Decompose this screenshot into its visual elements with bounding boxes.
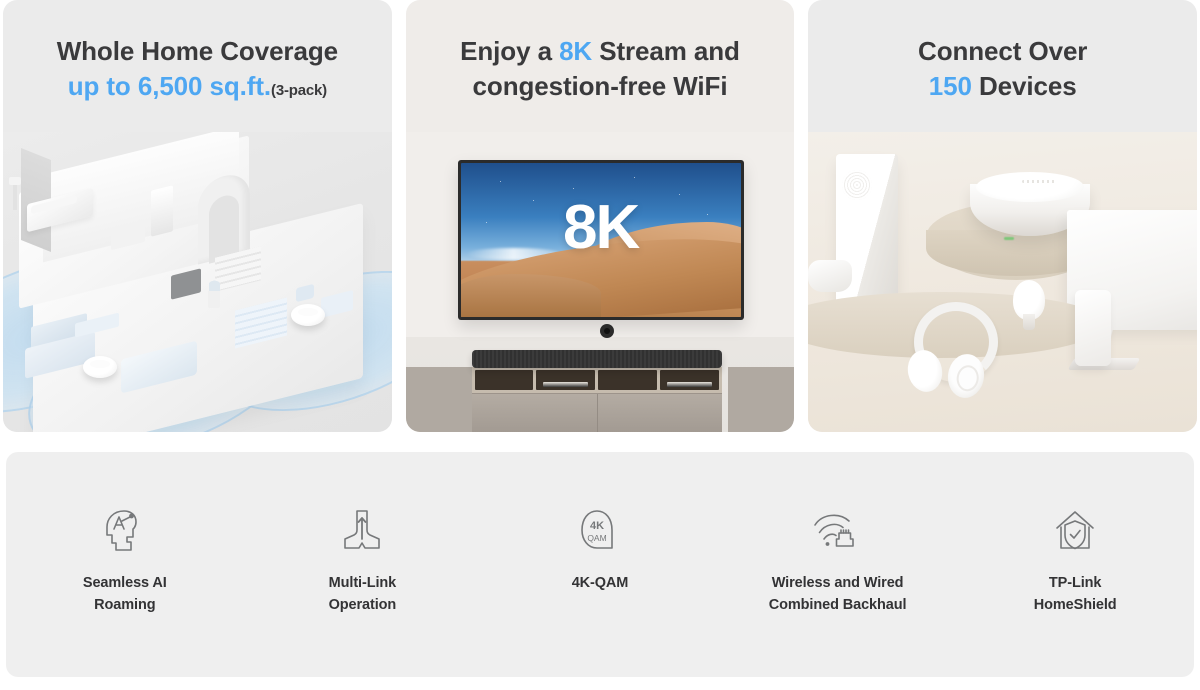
- cabinet: [151, 185, 173, 236]
- headphones: [908, 302, 986, 400]
- feature-highlights-panel: Seamless AI Roaming Multi-Link Operation…: [6, 452, 1194, 677]
- card-2-highlight: 8K: [559, 36, 592, 66]
- card-8k-stream[interactable]: Enjoy a 8K Stream and congestion-free Wi…: [406, 0, 795, 432]
- home-shield-icon: [1052, 504, 1098, 558]
- wifi-ethernet-icon: [812, 504, 864, 558]
- card-1-title-line2: up to 6,500 sq.ft.(3-pack): [57, 69, 338, 104]
- card-2-title-post: Stream and: [592, 36, 740, 66]
- sand-dune-front: [461, 274, 601, 317]
- feature-4k-qam[interactable]: 4K QAM 4K-QAM: [481, 452, 719, 594]
- svg-text:4K: 4K: [590, 520, 604, 532]
- router-status-led: [1004, 237, 1014, 240]
- star: [634, 177, 635, 178]
- card-1-artwork: [3, 132, 392, 432]
- card-2-title-line1: Enjoy a 8K Stream and: [460, 34, 740, 69]
- smart-bulb: [1013, 280, 1045, 336]
- console-wall-right: [728, 367, 794, 432]
- tv-room-illustration: 8K: [406, 132, 795, 432]
- ai-head-icon: [103, 504, 147, 558]
- tv-mount-knob: [600, 324, 614, 338]
- tv-screen: 8K: [461, 163, 741, 317]
- card-3-title-line2: 150 Devices: [918, 69, 1087, 104]
- media-device: [667, 382, 712, 387]
- floor-lamp: [13, 184, 17, 210]
- feature-multi-link-operation[interactable]: Multi-Link Operation: [244, 452, 482, 617]
- card-2-artwork: 8K: [406, 132, 795, 432]
- card-3-highlight: 150: [929, 71, 972, 101]
- card-2-title: Enjoy a 8K Stream and congestion-free Wi…: [446, 34, 754, 103]
- card-3-title: Connect Over 150 Devices: [904, 34, 1101, 103]
- svg-text:QAM: QAM: [587, 533, 606, 543]
- card-whole-home-coverage[interactable]: Whole Home Coverage up to 6,500 sq.ft.(3…: [3, 0, 392, 432]
- feature-tp-link-homeshield[interactable]: TP-Link HomeShield: [956, 452, 1194, 617]
- feature-label-2: 4K-QAM: [572, 572, 629, 594]
- feature-label-1: Multi-Link Operation: [329, 572, 397, 617]
- console-wall-left: [406, 367, 472, 432]
- tv-resolution-label: 8K: [461, 197, 741, 259]
- television: 8K: [458, 160, 744, 320]
- multi-link-icon: [340, 504, 384, 558]
- bulb-base: [1023, 314, 1035, 330]
- router-vent: [1022, 180, 1056, 183]
- card-connect-devices[interactable]: Connect Over 150 Devices: [808, 0, 1197, 432]
- devices-illustration: [808, 132, 1197, 432]
- card-3-title-post: Devices: [972, 71, 1077, 101]
- soundbar: [472, 350, 722, 368]
- feature-cards-row: Whole Home Coverage up to 6,500 sq.ft.(3…: [0, 0, 1200, 432]
- star: [573, 188, 574, 189]
- console-fan-grille: [842, 170, 872, 200]
- mesh-unit-second-room: [291, 304, 325, 326]
- router-top: [976, 172, 1084, 202]
- console-drawers: [472, 393, 722, 432]
- card-1-title-line1: Whole Home Coverage: [57, 34, 338, 69]
- card-3-artwork: [808, 132, 1197, 432]
- console-cubby: [536, 370, 595, 390]
- star: [679, 194, 680, 195]
- console-cubby: [475, 370, 534, 390]
- feature-seamless-ai-roaming[interactable]: Seamless AI Roaming: [6, 452, 244, 617]
- media-device: [543, 382, 588, 387]
- mesh-unit-living-room: [83, 356, 117, 378]
- card-1-title: Whole Home Coverage up to 6,500 sq.ft.(3…: [43, 34, 352, 103]
- smartphone: [1075, 290, 1111, 366]
- console-cubby: [660, 370, 719, 390]
- star: [500, 181, 501, 182]
- card-2-title-line2: congestion-free WiFi: [460, 69, 740, 104]
- isometric-house-illustration: [3, 132, 392, 432]
- card-1-highlight: up to 6,500 sq.ft.: [68, 71, 271, 101]
- feature-label-4: TP-Link HomeShield: [1034, 572, 1117, 617]
- feature-label-3: Wireless and Wired Combined Backhaul: [769, 572, 907, 617]
- qam-badge-icon: 4K QAM: [578, 504, 622, 558]
- potted-plant: [208, 290, 220, 308]
- game-controller: [808, 260, 852, 292]
- card-2-title-pre: Enjoy a: [460, 36, 559, 66]
- card-3-title-line1: Connect Over: [918, 34, 1087, 69]
- feature-label-0: Seamless AI Roaming: [83, 572, 167, 617]
- console-shelves: [472, 367, 722, 393]
- card-1-note: (3-pack): [271, 82, 327, 99]
- feature-combined-backhaul[interactable]: Wireless and Wired Combined Backhaul: [719, 452, 957, 617]
- media-console: [472, 367, 722, 432]
- console-cubby: [598, 370, 657, 390]
